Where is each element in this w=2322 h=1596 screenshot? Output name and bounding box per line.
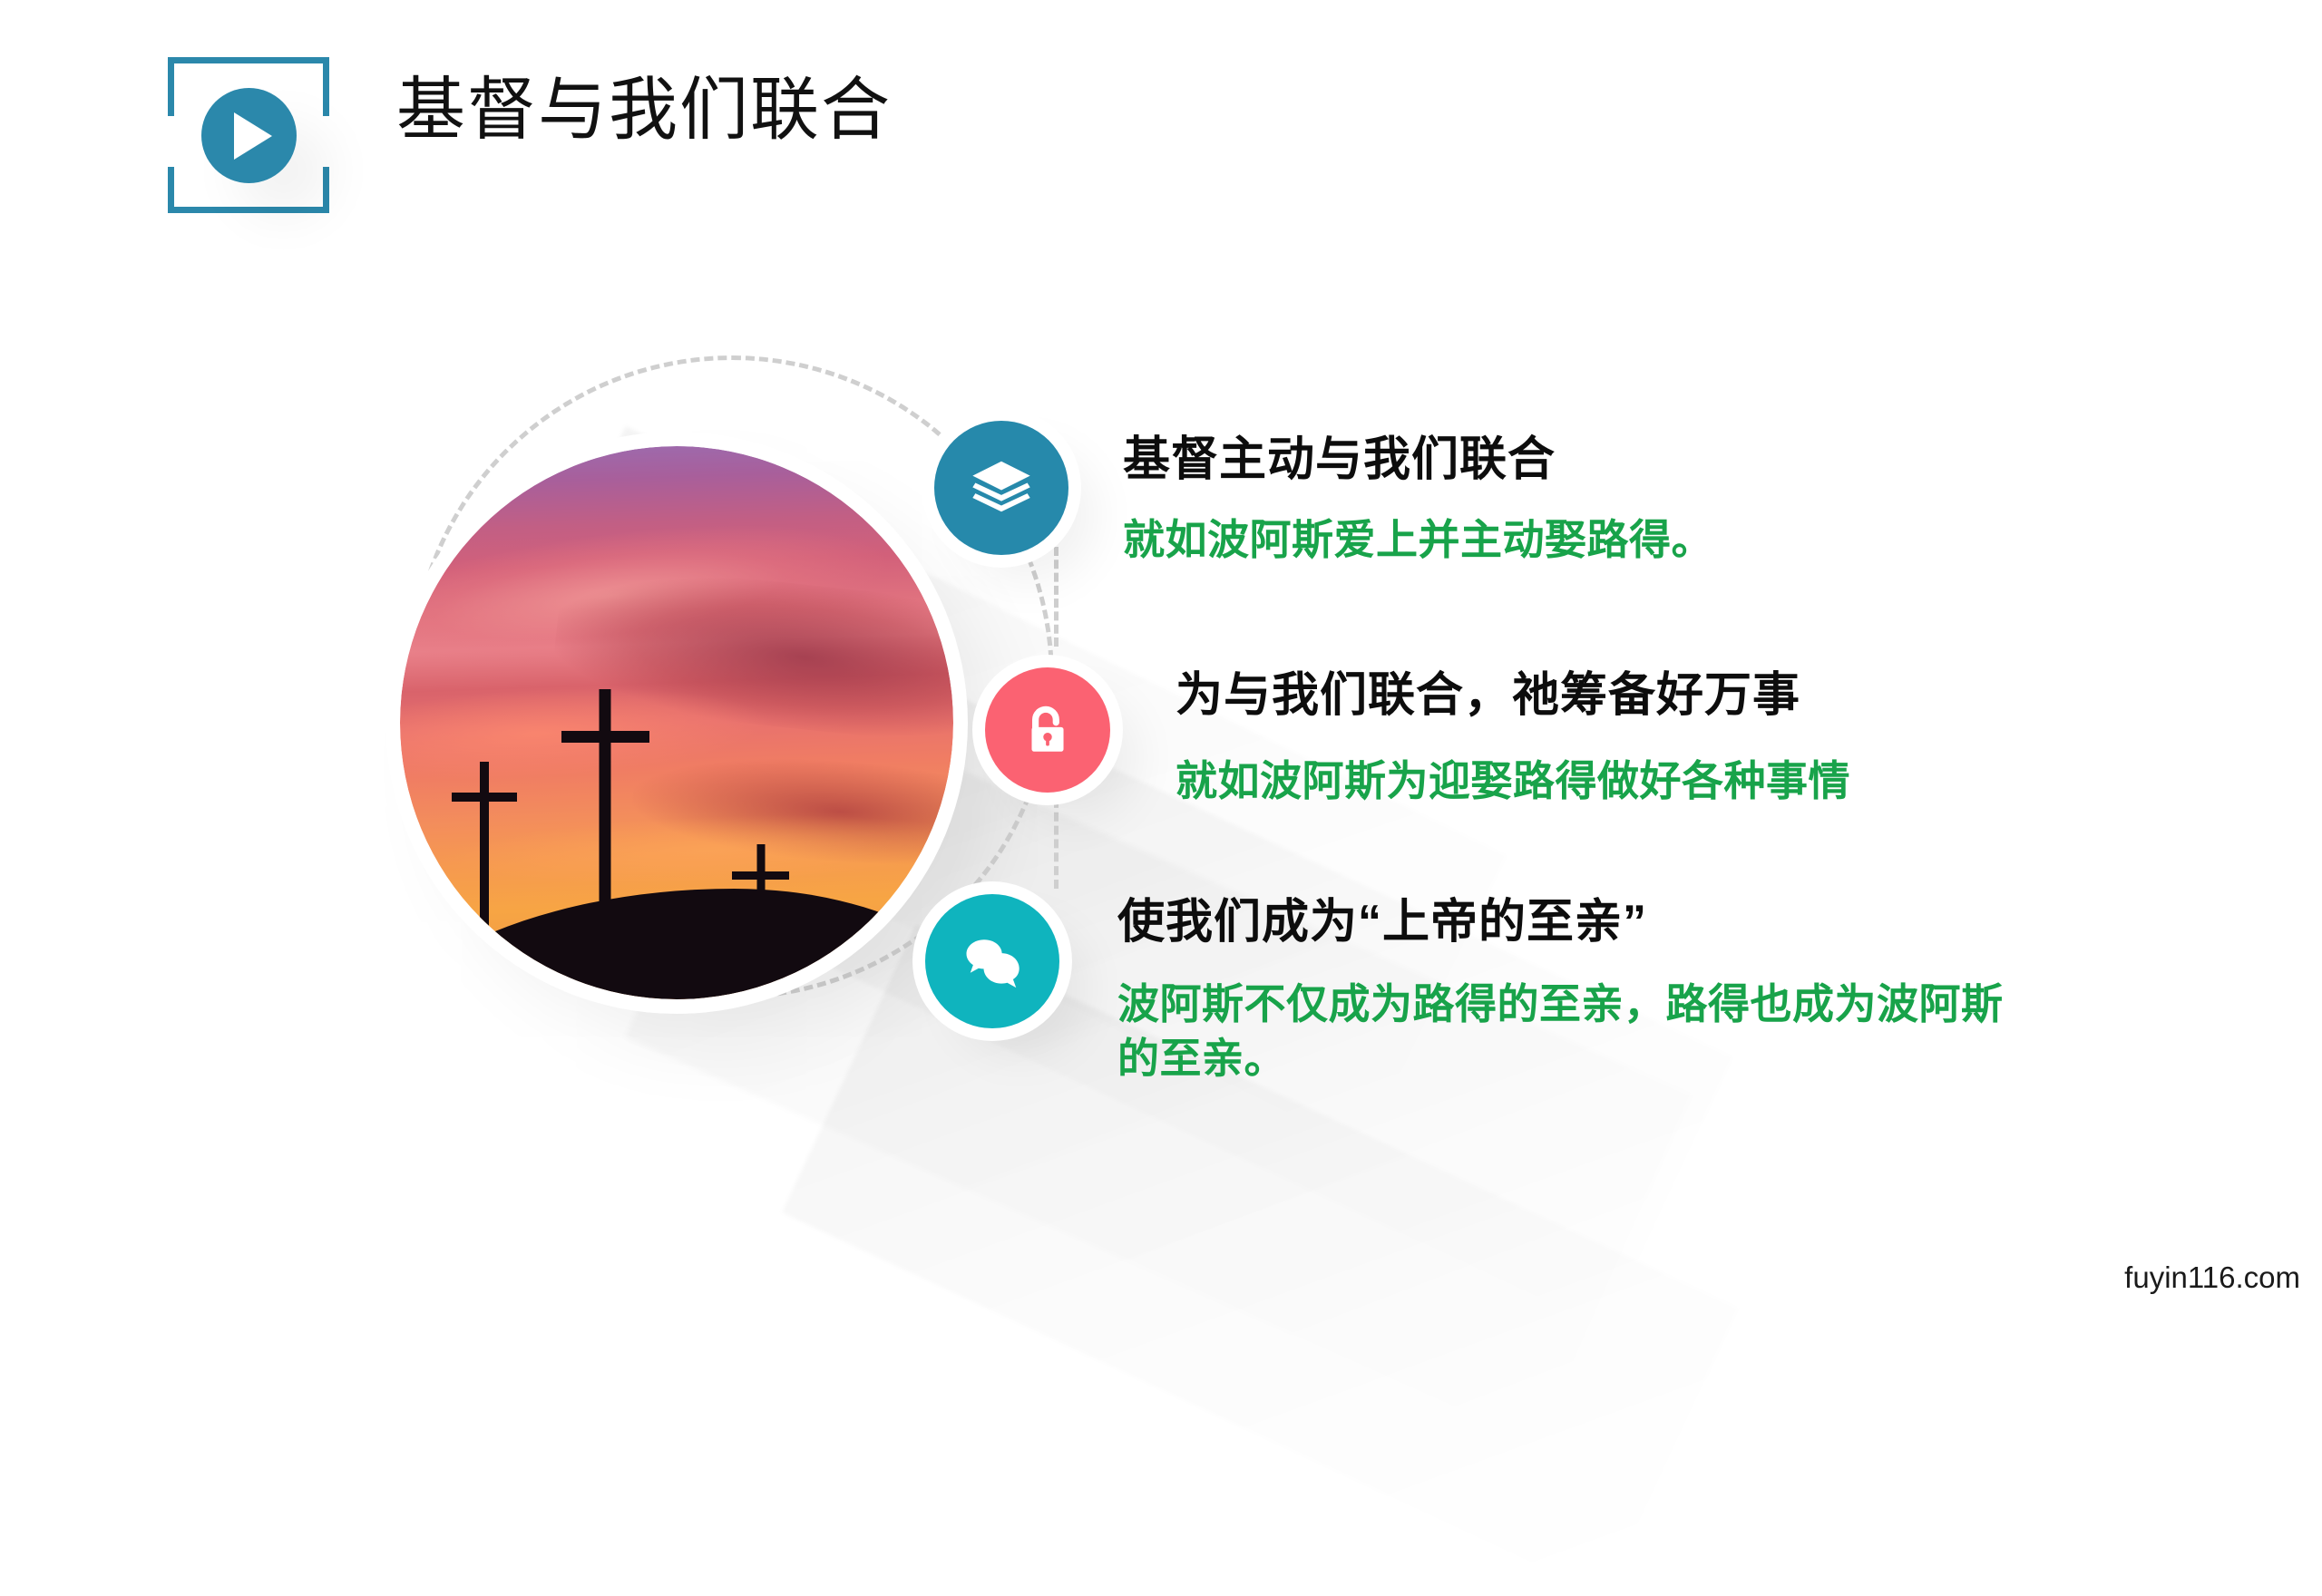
item-subtext: 就如波阿斯为迎娶路得做好各种事情 <box>1176 754 1850 809</box>
play-triangle <box>234 112 272 160</box>
cross-icon <box>480 762 489 928</box>
page-title: 基督与我们联合 <box>396 73 892 149</box>
item-subtext: 波阿斯不仅成为路得的至亲，路得也成为波阿斯的至亲。 <box>1117 978 2024 1086</box>
connector-dashed-line <box>1054 547 1059 647</box>
item-heading: 使我们成为“上帝的至亲” <box>1117 896 1647 949</box>
cross-icon <box>756 844 765 971</box>
item-subtext: 就如波阿斯爱上并主动娶路得。 <box>1123 513 1713 568</box>
connector-dashed-line <box>1054 785 1059 889</box>
slide-canvas: 基督与我们联合 <box>0 0 2322 1306</box>
item-heading: 为与我们联合，祂筹备好万事 <box>1176 669 1800 722</box>
layers-icon[interactable] <box>934 421 1068 555</box>
logo-mark <box>168 57 329 213</box>
play-icon <box>201 88 297 183</box>
item-heading: 基督主动与我们联合 <box>1123 433 1556 486</box>
photo-circle <box>400 446 953 999</box>
chat-bubbles-icon[interactable] <box>925 894 1059 1028</box>
cross-icon <box>600 689 611 932</box>
crosses-sunset-image <box>400 446 953 999</box>
unlock-icon[interactable] <box>985 667 1110 793</box>
site-watermark: fuyin116.com <box>2124 1260 2300 1295</box>
